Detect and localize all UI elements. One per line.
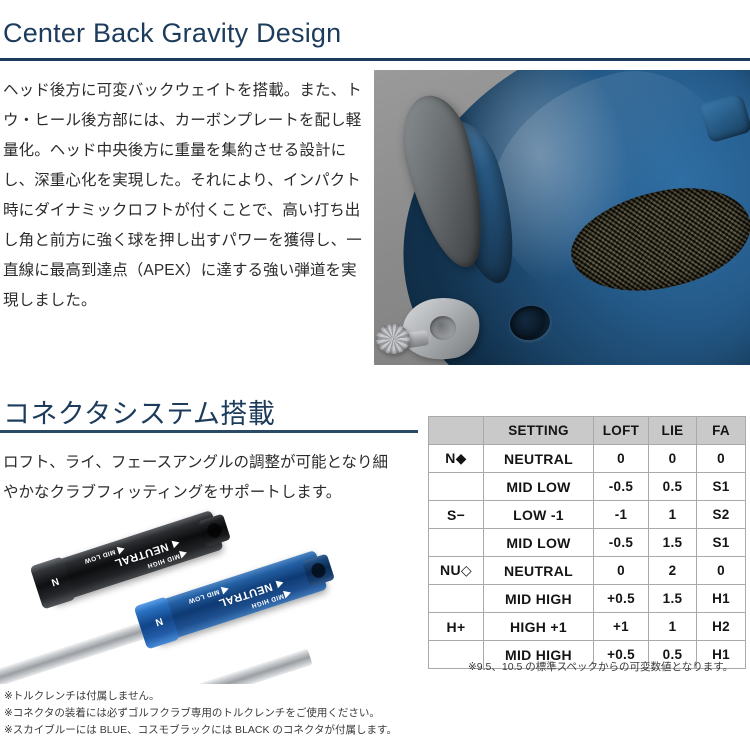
table-row: H+ HIGH +1 +1 1 H2 bbox=[429, 613, 746, 641]
footnote-line-2: ※コネクタの装着には必ずゴルフクラブ専用のトルクレンチをご使用ください。 bbox=[4, 705, 434, 722]
cell-fa: S1 bbox=[697, 529, 746, 557]
table-row: NU◇ NEUTRAL 0 2 0 bbox=[429, 557, 746, 585]
section2-divider bbox=[0, 430, 418, 433]
cell-setting: NEUTRAL bbox=[484, 557, 594, 585]
cell-setting: NEUTRAL bbox=[484, 445, 594, 473]
cell-code: S− bbox=[429, 501, 484, 529]
cell-fa: H1 bbox=[697, 585, 746, 613]
table-row: MID HIGH +0.5 1.5 H1 bbox=[429, 585, 746, 613]
cell-loft: 0 bbox=[594, 557, 649, 585]
cell-code bbox=[429, 585, 484, 613]
connector-black-mid-low-label: MID LOW bbox=[83, 548, 116, 565]
cell-loft: +1 bbox=[594, 613, 649, 641]
section1-description: ヘッド後方に可変バックウェイトを搭載。また、トウ・ヒール後方部には、カーボンプレ… bbox=[3, 76, 365, 316]
table-row: S− LOW -1 -1 1 S2 bbox=[429, 501, 746, 529]
cell-setting: MID LOW bbox=[484, 473, 594, 501]
cell-lie: 0.5 bbox=[649, 473, 697, 501]
cell-setting: LOW -1 bbox=[484, 501, 594, 529]
cell-loft: -1 bbox=[594, 501, 649, 529]
spec-table-note: ※9.5、10.5 の標準スペックからの可変数値となります。 bbox=[468, 659, 733, 674]
connector-blue-arrow-icon-2 bbox=[276, 579, 285, 589]
cell-lie: 1.5 bbox=[649, 529, 697, 557]
cell-loft: -0.5 bbox=[594, 473, 649, 501]
table-row: N◆ NEUTRAL 0 0 0 bbox=[429, 445, 746, 473]
table-row: MID LOW -0.5 0.5 S1 bbox=[429, 473, 746, 501]
table-header-loft: LOFT bbox=[594, 417, 649, 445]
connector-blue-arrow-icon-1 bbox=[283, 589, 292, 599]
spec-table: SETTING LOFT LIE FA N◆ NEUTRAL 0 0 0 MID… bbox=[428, 416, 746, 669]
cell-lie: 1 bbox=[649, 613, 697, 641]
table-header-fa: FA bbox=[697, 417, 746, 445]
cell-fa: 0 bbox=[697, 557, 746, 585]
cell-loft: -0.5 bbox=[594, 529, 649, 557]
footnotes: ※トルクレンチは付属しません。 ※コネクタの装着には必ずゴルフクラブ専用のトルク… bbox=[4, 688, 434, 739]
section2-title: コネクタシステム搭載 bbox=[3, 392, 423, 431]
cell-loft: 0 bbox=[594, 445, 649, 473]
table-row: MID LOW -0.5 1.5 S1 bbox=[429, 529, 746, 557]
cell-fa: S2 bbox=[697, 501, 746, 529]
cell-lie: 1.5 bbox=[649, 585, 697, 613]
table-header-row: SETTING LOFT LIE FA bbox=[429, 417, 746, 445]
connector-black-arrow-icon-1 bbox=[179, 549, 188, 559]
cell-setting: MID LOW bbox=[484, 529, 594, 557]
table-header-code bbox=[429, 417, 484, 445]
footnote-line-3: ※スカイブルーには BLUE、コスモブラックには BLACK のコネクタが付属し… bbox=[4, 722, 434, 739]
weight-screw bbox=[376, 324, 410, 354]
section2-description: ロフト、ライ、フェースアングルの調整が可能となり細やかなクラブフィッティングをサ… bbox=[3, 448, 403, 508]
table-header-setting: SETTING bbox=[484, 417, 594, 445]
cell-code: H+ bbox=[429, 613, 484, 641]
cell-fa: H2 bbox=[697, 613, 746, 641]
title-divider bbox=[0, 58, 750, 61]
cell-loft: +0.5 bbox=[594, 585, 649, 613]
table-header-lie: LIE bbox=[649, 417, 697, 445]
shaft-blue bbox=[106, 648, 313, 684]
connector-image: N NEUTRAL MID HIGH MID LOW N NEUTRAL MID… bbox=[0, 508, 420, 684]
cell-lie: 0 bbox=[649, 445, 697, 473]
weight-bracket-hole bbox=[430, 316, 456, 340]
connector-black-arrow-icon-2 bbox=[172, 539, 181, 549]
cell-lie: 1 bbox=[649, 501, 697, 529]
cell-code bbox=[429, 473, 484, 501]
cell-lie: 2 bbox=[649, 557, 697, 585]
cell-code: NU◇ bbox=[429, 557, 484, 585]
cell-fa: 0 bbox=[697, 445, 746, 473]
cell-setting: MID HIGH bbox=[484, 585, 594, 613]
cell-setting: HIGH +1 bbox=[484, 613, 594, 641]
cell-fa: S1 bbox=[697, 473, 746, 501]
section2-body-text: ロフト、ライ、フェースアングルの調整が可能となり細やかなクラブフィッティングをサ… bbox=[3, 448, 403, 508]
cell-code: N◆ bbox=[429, 445, 484, 473]
footnote-line-1: ※トルクレンチは付属しません。 bbox=[4, 688, 434, 705]
cell-code bbox=[429, 529, 484, 557]
connector-blue-mid-low-label: MID LOW bbox=[187, 588, 220, 605]
page-title: Center Back Gravity Design bbox=[3, 18, 423, 49]
driver-head-image bbox=[374, 70, 750, 365]
section1-body-text: ヘッド後方に可変バックウェイトを搭載。また、トウ・ヒール後方部には、カーボンプレ… bbox=[3, 76, 365, 316]
